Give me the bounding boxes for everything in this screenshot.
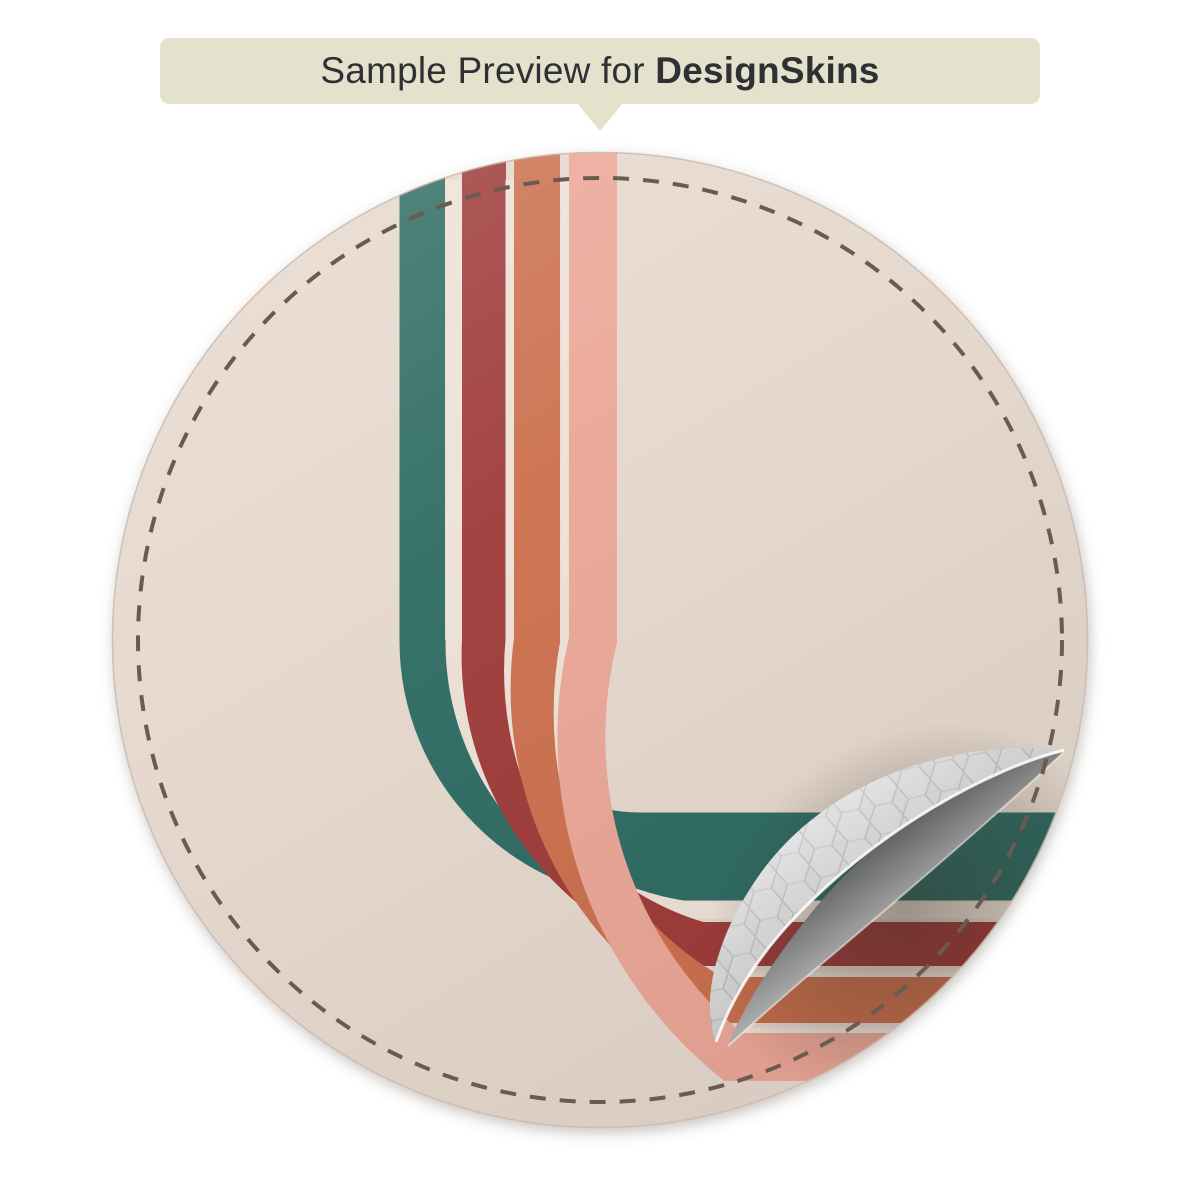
sample-preview-tooltip: Sample Preview for DesignSkins xyxy=(160,38,1040,104)
preview-stage: Sample Preview for DesignSkins xyxy=(0,0,1200,1200)
tooltip-text-normal: Sample Preview for xyxy=(320,50,655,91)
tooltip-tail xyxy=(577,103,623,131)
round-sticker-preview[interactable] xyxy=(0,0,1200,1200)
sticker-design xyxy=(112,100,1200,1165)
sticker-svg xyxy=(0,0,1200,1200)
tooltip-text-brand: DesignSkins xyxy=(655,50,879,91)
tooltip-label: Sample Preview for DesignSkins xyxy=(320,50,879,92)
